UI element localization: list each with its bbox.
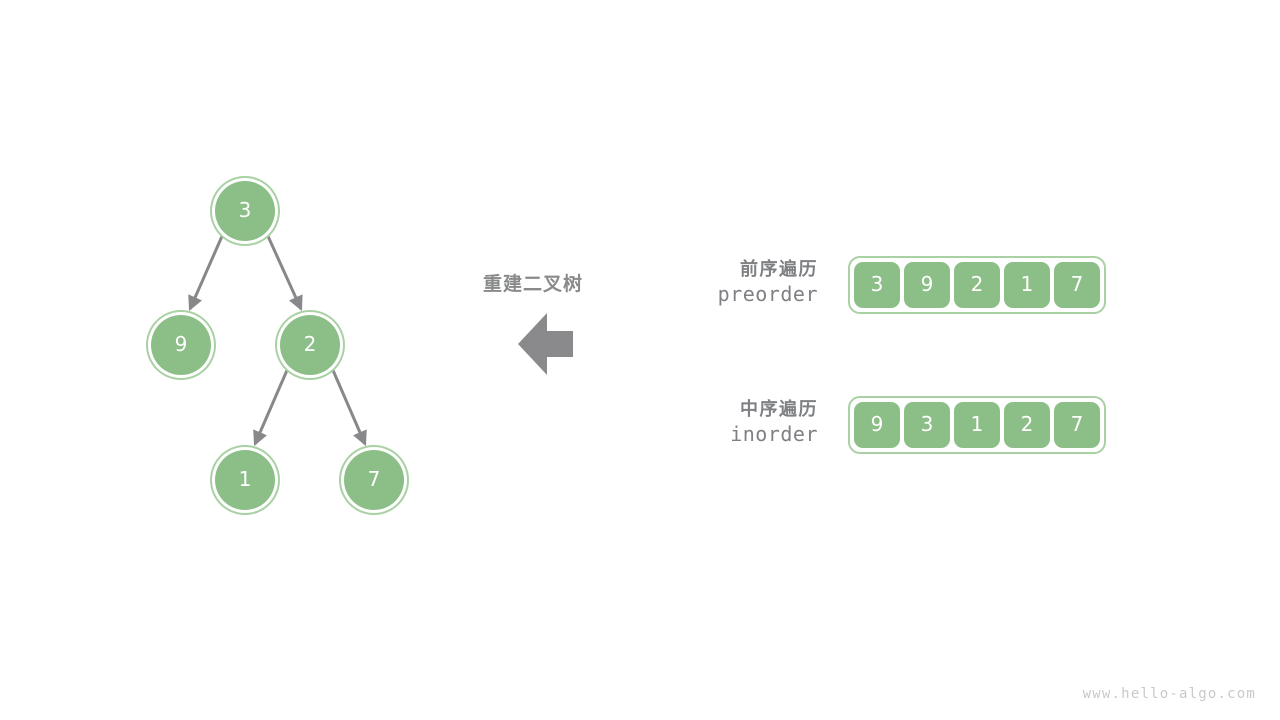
inorder-label-en: inorder	[730, 420, 818, 449]
array-cell[interactable]: 3	[904, 402, 950, 448]
array-cell-value: 7	[1071, 412, 1084, 436]
array-cell[interactable]: 1	[1004, 262, 1050, 308]
array-cell[interactable]: 9	[854, 402, 900, 448]
inorder-labels: 中序遍历 inorder	[688, 401, 818, 449]
array-cell-value: 7	[1071, 272, 1084, 296]
preorder-labels: 前序遍历 preorder	[688, 261, 818, 309]
preorder-label-cn: 前序遍历	[740, 261, 818, 280]
tree-node-value: 2	[304, 334, 317, 354]
binary-tree: 3 9 2 1 7	[0, 0, 1280, 720]
preorder-array: 3 9 2 1 7	[848, 256, 1106, 314]
array-cell-value: 1	[1021, 272, 1034, 296]
inorder-row: 中序遍历 inorder 9 3 1 2 7	[688, 396, 1106, 454]
array-cell[interactable]: 7	[1054, 402, 1100, 448]
array-cell[interactable]: 3	[854, 262, 900, 308]
tree-node[interactable]: 2	[280, 315, 340, 375]
tree-node-value: 7	[368, 469, 381, 489]
tree-node[interactable]: 3	[215, 181, 275, 241]
site-watermark: www.hello-algo.com	[1083, 686, 1256, 702]
array-cell-value: 3	[871, 272, 884, 296]
preorder-label-en: preorder	[718, 280, 818, 309]
tree-node[interactable]: 1	[215, 450, 275, 510]
array-cell-value: 3	[921, 412, 934, 436]
array-cell-value: 9	[871, 412, 884, 436]
array-cell-value: 1	[971, 412, 984, 436]
array-cell-value: 2	[971, 272, 984, 296]
tree-node-value: 9	[175, 334, 188, 354]
array-cell[interactable]: 7	[1054, 262, 1100, 308]
array-cell[interactable]: 1	[954, 402, 1000, 448]
array-cell-value: 9	[921, 272, 934, 296]
array-cell[interactable]: 2	[954, 262, 1000, 308]
inorder-label-cn: 中序遍历	[740, 401, 818, 420]
array-cell[interactable]: 2	[1004, 402, 1050, 448]
preorder-row: 前序遍历 preorder 3 9 2 1 7	[688, 256, 1106, 314]
tree-node[interactable]: 9	[151, 315, 211, 375]
tree-node[interactable]: 7	[344, 450, 404, 510]
array-cell-value: 2	[1021, 412, 1034, 436]
tree-node-value: 3	[239, 200, 252, 220]
inorder-array: 9 3 1 2 7	[848, 396, 1106, 454]
rebuild-tree-caption: 重建二叉树	[483, 269, 583, 296]
tree-node-value: 1	[239, 469, 252, 489]
array-cell[interactable]: 9	[904, 262, 950, 308]
